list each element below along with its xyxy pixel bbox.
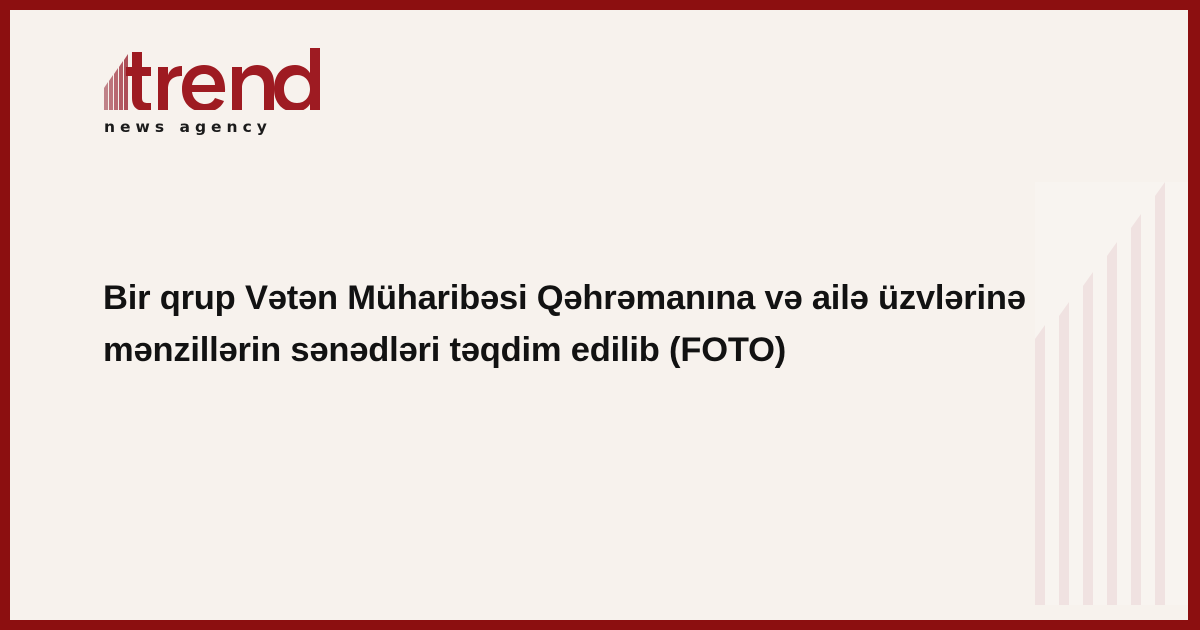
deco-bars-icon: [1025, 172, 1188, 605]
logo-ascending-bars-icon: [104, 54, 128, 110]
trend-wordmark-icon: [96, 48, 336, 110]
headline-line-1: Bir qrup Vətən Müharibəsi Qəhrəmanına və…: [103, 279, 869, 317]
ascending-bars-graphic: [1025, 172, 1188, 605]
headline: Bir qrup Vətən Müharibəsi Qəhrəmanına və…: [103, 272, 1063, 376]
social-share-card: news agency Bir qrup Vətən Müharibəsi Qə…: [10, 10, 1188, 620]
logo-tagline: news agency: [104, 118, 272, 136]
trend-news-agency-logo[interactable]: news agency: [96, 48, 336, 140]
logo-wordmark-letters: [126, 48, 320, 110]
